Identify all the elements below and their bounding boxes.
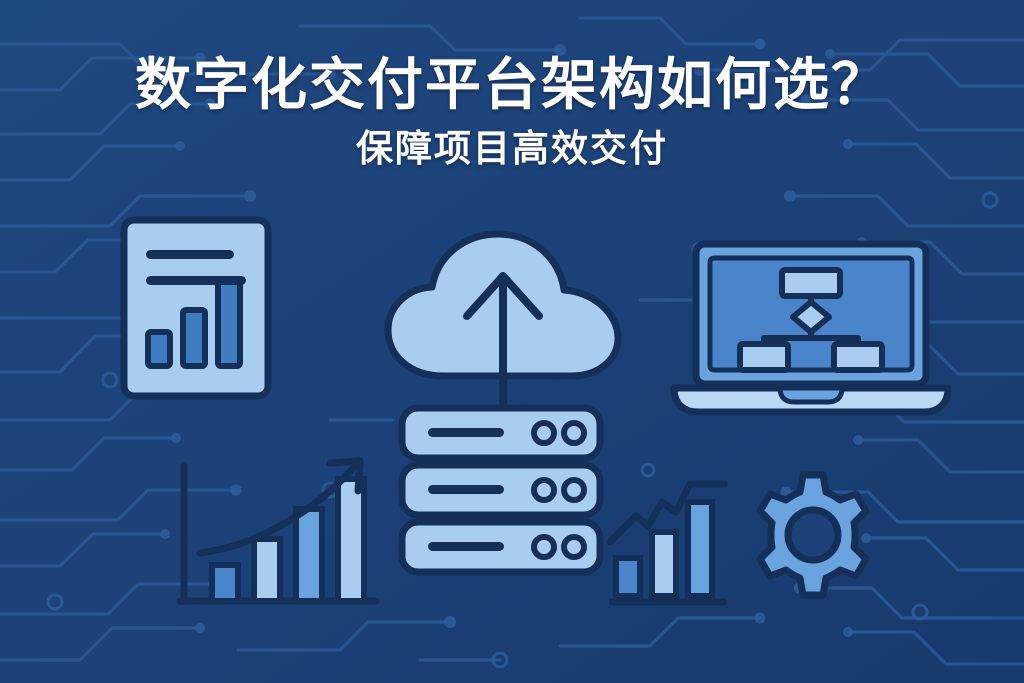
server-stack-icon: [396, 404, 606, 576]
growth-bar: [296, 509, 322, 601]
flow-node-right: [834, 344, 882, 370]
flow-node-left: [740, 344, 788, 370]
server-slot: [428, 542, 504, 551]
server-led: [534, 537, 554, 557]
page-subtitle: 保障项目高效交付: [0, 127, 1024, 171]
server-slot: [428, 485, 504, 494]
document-report-icon: [118, 214, 274, 402]
server-led: [564, 537, 584, 557]
gear-hole: [788, 510, 838, 560]
laptop-flowchart-icon: [668, 238, 954, 418]
server-slot: [428, 428, 504, 437]
cloud-upload-icon: [382, 228, 626, 408]
small-bars: [616, 502, 712, 596]
flow-node-top: [782, 270, 840, 296]
server-led: [564, 423, 584, 443]
poster-canvas: 数字化交付平台架构如何选？ 保障项目高效交付: [0, 0, 1024, 683]
laptop-trackpad-notch: [780, 388, 842, 402]
growth-bar: [254, 539, 280, 601]
growth-bar: [212, 565, 238, 601]
server-rack: [402, 408, 600, 458]
server-led: [534, 423, 554, 443]
growth-chart-icon: [170, 455, 384, 615]
server-led: [534, 480, 554, 500]
small-bar: [652, 532, 676, 596]
server-rack: [402, 522, 600, 572]
document-text-line: [146, 250, 234, 259]
headline-block: 数字化交付平台架构如何选？ 保障项目高效交付: [0, 54, 1024, 171]
server-rack: [402, 465, 600, 515]
small-bar-chart-icon: [606, 468, 730, 610]
small-bar: [616, 558, 640, 596]
growth-bars: [212, 479, 364, 601]
growth-bar: [338, 479, 364, 601]
small-bar: [688, 502, 712, 596]
gear-settings-icon: [748, 470, 878, 600]
server-led: [564, 480, 584, 500]
page-title: 数字化交付平台架构如何选？: [0, 54, 1024, 117]
